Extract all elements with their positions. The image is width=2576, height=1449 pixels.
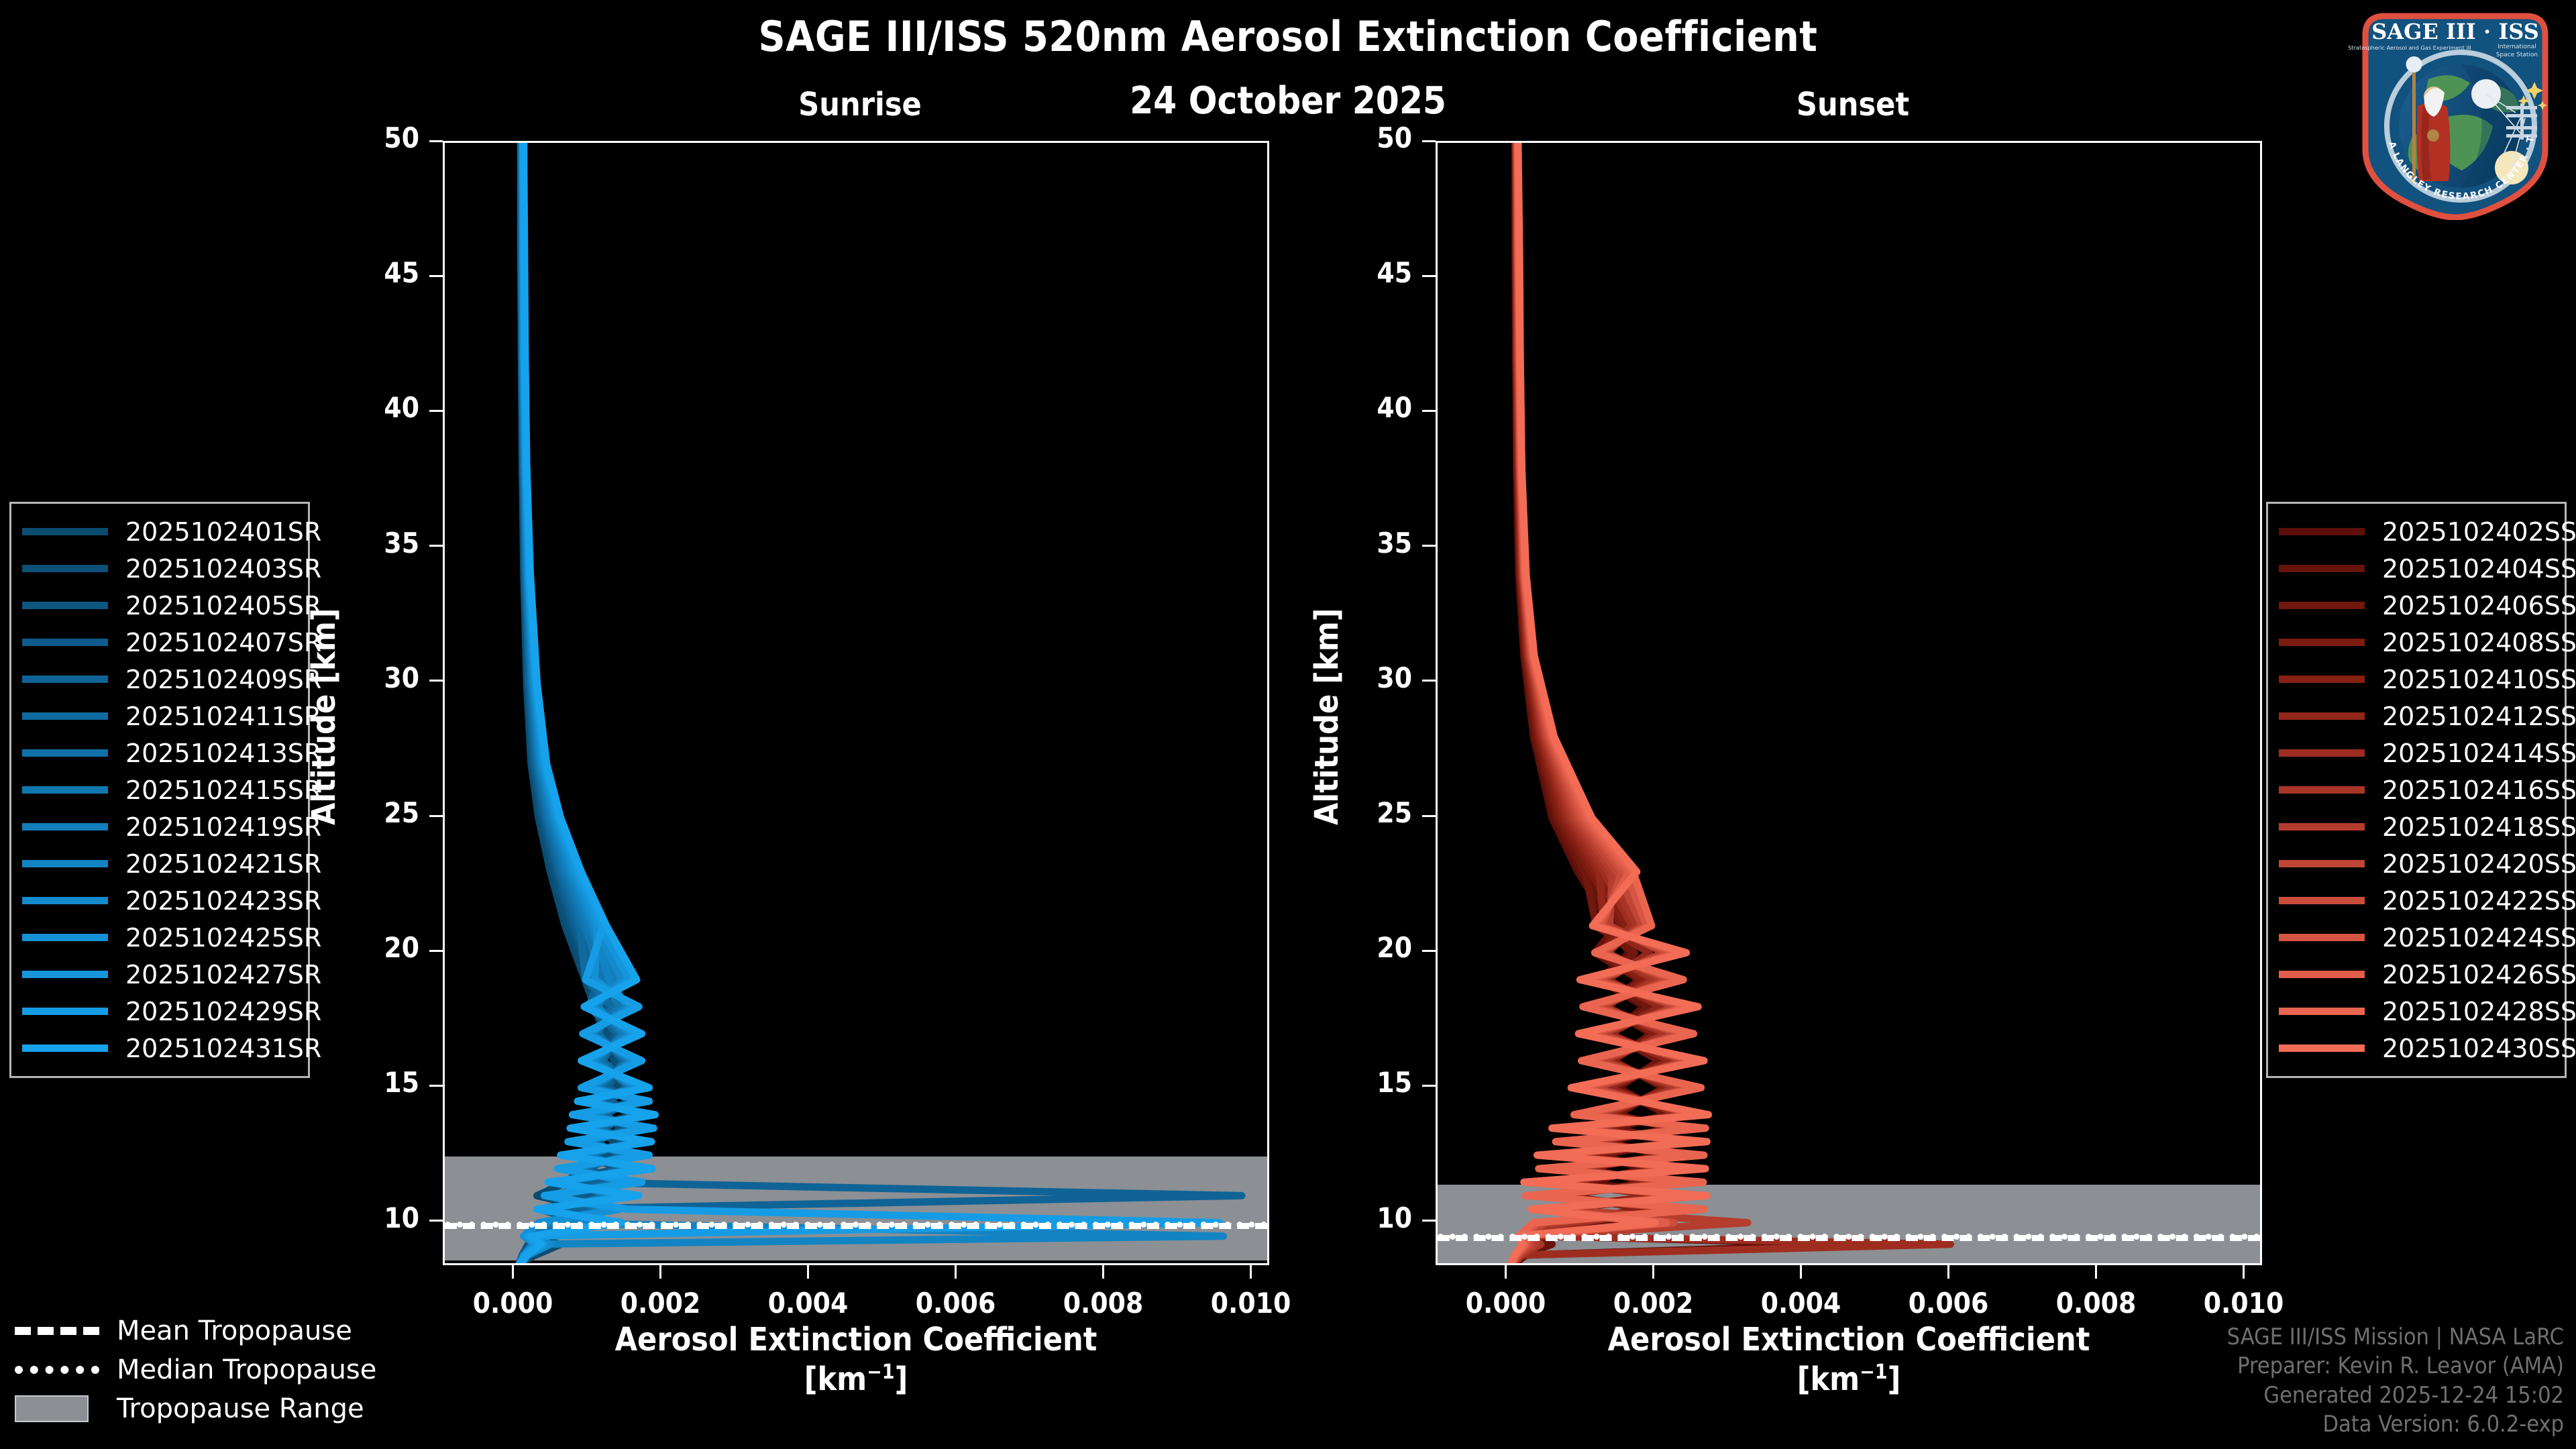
legend-color-swatch [22,897,108,904]
y-tick [429,140,443,142]
x-axis-label-line2: [km−1] [443,1360,1269,1399]
legend-color-swatch [2279,897,2365,904]
y-tick [429,950,443,952]
legend-item[interactable]: 2025102419SR [22,808,297,845]
x-tick [659,1265,661,1279]
legend-color-swatch [2279,786,2365,794]
y-tick-label: 40 [1311,391,1412,424]
credits-block: SAGE III/ISS Mission | NASA LaRC Prepare… [2227,1323,2564,1440]
logo-title: SAGE III · ISS [2371,19,2539,44]
legend-color-swatch [2279,528,2365,535]
legend-item[interactable]: 2025102409SR [22,661,297,698]
y-tick [1422,275,1436,277]
x-tick [2095,1265,2097,1279]
x-tick [1505,1265,1507,1279]
logo-subtitle-right-2: Space Station [2496,52,2538,58]
legend-item-label: 2025102421SR [125,849,297,879]
legend-item[interactable]: 2025102402SS [2279,513,2554,550]
legend-item-label: 2025102425SR [125,923,297,953]
y-tick [1422,410,1436,412]
legend-item[interactable]: 2025102404SS [2279,550,2554,587]
y-tick-label: 40 [319,391,419,424]
legend-item[interactable]: 2025102427SR [22,956,297,993]
dashed-line-icon [15,1327,99,1335]
x-tick-label: 0.004 [735,1287,882,1320]
sage-iii-iss-mission-patch-logo: SAGE III · ISS Stratospheric Aerosol and… [2348,5,2563,220]
legend-color-swatch [2279,971,2365,978]
legend-label-range: Tropopause Range [117,1393,364,1424]
legend-color-swatch [2279,639,2365,646]
legend-color-swatch [2279,602,2365,609]
legend-item[interactable]: 2025102401SR [22,513,297,550]
legend-item-label: 2025102412SS [2382,702,2554,731]
legend-item[interactable]: 2025102407SR [22,624,297,661]
x-tick [1250,1265,1252,1279]
x-axis-label-sunrise: Aerosol Extinction Coefficient [km−1] [443,1320,1269,1399]
credit-line-mission: SAGE III/ISS Mission | NASA LaRC [2227,1323,2564,1352]
legend-item-label: 2025102405SR [125,591,297,621]
legend-color-swatch [22,860,108,867]
legend-color-swatch [2279,860,2365,867]
legend-color-swatch [22,602,108,609]
legend-color-swatch [22,712,108,720]
legend-item[interactable]: 2025102411SR [22,698,297,735]
legend-color-swatch [22,565,108,572]
y-tick-label: 10 [1311,1201,1412,1234]
x-axis-label-line1: Aerosol Extinction Coefficient [1436,1320,2262,1360]
y-tick [429,815,443,817]
legend-item[interactable]: 2025102412SS [2279,698,2554,735]
legend-item[interactable]: 2025102430SS [2279,1030,2554,1067]
legend-color-swatch [22,971,108,978]
legend-item[interactable]: 2025102424SS [2279,919,2554,956]
x-tick-label: 0.004 [1727,1287,1875,1320]
y-tick [429,410,443,412]
legend-item[interactable]: 2025102425SR [22,919,297,956]
legend-sunrise[interactable]: 2025102401SR2025102403SR2025102405SR2025… [9,502,310,1078]
legend-item[interactable]: 2025102423SR [22,882,297,919]
x-tick-label: 0.000 [1432,1287,1580,1320]
legend-item[interactable]: 2025102426SS [2279,956,2554,993]
y-tick [1422,815,1436,817]
dotted-line-icon [15,1366,99,1374]
legend-item-median-tropopause: Median Tropopause [15,1350,376,1389]
legend-item-label: 2025102428SS [2382,997,2554,1026]
legend-item-label: 2025102423SR [125,886,297,916]
legend-color-swatch [22,676,108,683]
filled-band-icon [15,1395,99,1422]
logo-subtitle-right-1: International [2498,44,2536,50]
legend-color-swatch [22,823,108,830]
legend-item[interactable]: 2025102429SR [22,993,297,1030]
legend-item-label: 2025102403SR [125,554,297,584]
legend-item-label: 2025102401SR [125,517,297,547]
x-tick-label: 0.006 [882,1287,1030,1320]
x-tick-label: 0.010 [2170,1287,2318,1320]
x-axis-label-line2: [km−1] [1436,1360,2262,1399]
profile-line [1513,143,1950,1263]
y-axis-label-sunset: Altitude [km] [1308,608,1346,825]
legend-item-label: 2025102402SS [2382,517,2554,547]
x-tick-label: 0.002 [1580,1287,1727,1320]
legend-item[interactable]: 2025102403SR [22,550,297,587]
legend-item-label: 2025102419SR [125,812,297,842]
legend-color-swatch [22,1044,108,1052]
legend-color-swatch [2279,934,2365,941]
x-tick-label: 0.002 [587,1287,735,1320]
legend-color-swatch [2279,749,2365,757]
x-tick-label: 0.006 [1875,1287,2023,1320]
legend-item-label: 2025102411SR [125,702,297,731]
legend-color-swatch [2279,823,2365,830]
legend-item-label: 2025102426SS [2382,960,2554,989]
legend-item-label: 2025102430SS [2382,1034,2554,1063]
y-tick [429,1085,443,1087]
legend-color-swatch [2279,565,2365,572]
legend-color-swatch [22,528,108,535]
legend-item[interactable]: 2025102420SS [2279,845,2554,882]
logo-subtitle-left: Stratospheric Aerosol and Gas Experiment… [2348,44,2471,51]
legend-item[interactable]: 2025102415SR [22,771,297,808]
legend-item-label: 2025102416SS [2382,775,2554,805]
legend-label-mean: Mean Tropopause [117,1316,352,1346]
legend-item[interactable]: 2025102421SR [22,845,297,882]
y-tick [429,680,443,682]
x-tick [1947,1265,1949,1279]
legend-item[interactable]: 2025102416SS [2279,771,2554,808]
legend-color-swatch [2279,1008,2365,1015]
page-title: SAGE III/ISS 520nm Aerosol Extinction Co… [0,12,2576,61]
y-tick-label: 45 [1311,256,1412,289]
y-tick-label: 35 [319,527,419,559]
profile-curves-sunrise [445,143,1267,1263]
credit-line-generated: Generated 2025-12-24 15:02 [2227,1381,2564,1411]
legend-color-swatch [2279,712,2365,720]
legend-color-swatch [2279,676,2365,683]
legend-color-swatch [22,934,108,941]
legend-item-mean-tropopause: Mean Tropopause [15,1311,376,1350]
legend-item-label: 2025102415SR [125,775,297,805]
x-tick-label: 0.000 [439,1287,587,1320]
y-tick-label: 20 [1311,931,1412,964]
legend-item-label: 2025102409SR [125,665,297,694]
x-tick [955,1265,957,1279]
y-tick-label: 35 [1311,527,1412,559]
y-tick-label: 15 [1311,1066,1412,1099]
legend-color-swatch [22,749,108,757]
panel-title-sunrise: Sunrise [719,86,1001,123]
y-tick [429,545,443,547]
legend-item[interactable]: 2025102418SS [2279,808,2554,845]
y-tick [1422,950,1436,952]
legend-color-swatch [22,786,108,794]
legend-item-label: 2025102404SS [2382,554,2554,584]
x-tick [807,1265,809,1279]
y-tick [1422,1220,1436,1222]
legend-label-median: Median Tropopause [117,1354,376,1385]
x-tick [1102,1265,1104,1279]
legend-item-label: 2025102422SS [2382,886,2554,916]
y-tick [1422,1085,1436,1087]
y-tick-label: 45 [319,256,419,289]
legend-item-label: 2025102418SS [2382,812,2554,842]
x-tick [512,1265,514,1279]
x-axis-label-sunset: Aerosol Extinction Coefficient [km−1] [1436,1320,2262,1399]
y-tick [1422,545,1436,547]
legend-item-label: 2025102408SS [2382,628,2554,657]
legend-item[interactable]: 2025102406SS [2279,587,2554,624]
legend-item-tropopause-range: Tropopause Range [15,1389,376,1428]
legend-item[interactable]: 2025102410SS [2279,661,2554,698]
y-tick [429,275,443,277]
median-tropopause-line [1438,1234,2260,1240]
legend-color-swatch [22,639,108,646]
panel-title-sunset: Sunset [1712,86,1994,123]
legend-item-label: 2025102407SR [125,628,297,657]
legend-item-label: 2025102406SS [2382,591,2554,621]
credit-line-version: Data Version: 6.0.2-exp [2227,1410,2564,1440]
x-tick [1800,1265,1802,1279]
legend-item-label: 2025102424SS [2382,923,2554,953]
y-tick-label: 15 [319,1066,419,1099]
legend-sunset[interactable]: 2025102402SS2025102404SS2025102406SS2025… [2266,502,2567,1078]
legend-color-swatch [22,1008,108,1015]
y-tick [1422,680,1436,682]
y-tick-label: 50 [1311,121,1412,154]
y-tick [1422,140,1436,142]
x-tick [1652,1265,1654,1279]
legend-item[interactable]: 2025102428SS [2279,993,2554,1030]
legend-item[interactable]: 2025102405SR [22,587,297,624]
x-tick-label: 0.010 [1177,1287,1325,1320]
legend-item-label: 2025102429SR [125,997,297,1026]
legend-item-label: 2025102413SR [125,739,297,768]
legend-item[interactable]: 2025102422SS [2279,882,2554,919]
legend-item[interactable]: 2025102431SR [22,1030,297,1067]
legend-item[interactable]: 2025102408SS [2279,624,2554,661]
x-axis-label-line1: Aerosol Extinction Coefficient [443,1320,1269,1360]
profile-line [1515,143,1862,1263]
profile-curves-sunset [1438,143,2260,1263]
x-tick-label: 0.008 [2023,1287,2170,1320]
date-subtitle: 24 October 2025 [0,79,2576,123]
y-tick-label: 10 [319,1201,419,1234]
legend-item[interactable]: 2025102413SR [22,735,297,771]
legend-tropopause: Mean Tropopause Median Tropopause Tropop… [15,1311,376,1428]
legend-color-swatch [2279,1044,2365,1052]
plot-area-sunset [1436,141,2262,1265]
median-tropopause-line [445,1222,1267,1228]
legend-item[interactable]: 2025102414SS [2279,735,2554,771]
y-tick-label: 50 [319,121,419,154]
plot-area-sunrise [443,141,1269,1265]
legend-item-label: 2025102431SR [125,1034,297,1063]
x-tick-label: 0.008 [1030,1287,1177,1320]
y-tick-label: 20 [319,931,419,964]
y-tick [429,1220,443,1222]
credit-line-preparer: Preparer: Kevin R. Leavor (AMA) [2227,1352,2564,1381]
legend-item-label: 2025102414SS [2382,739,2554,768]
legend-item-label: 2025102410SS [2382,665,2554,694]
x-tick [2243,1265,2245,1279]
legend-item-label: 2025102427SR [125,960,297,989]
legend-item-label: 2025102420SS [2382,849,2554,879]
